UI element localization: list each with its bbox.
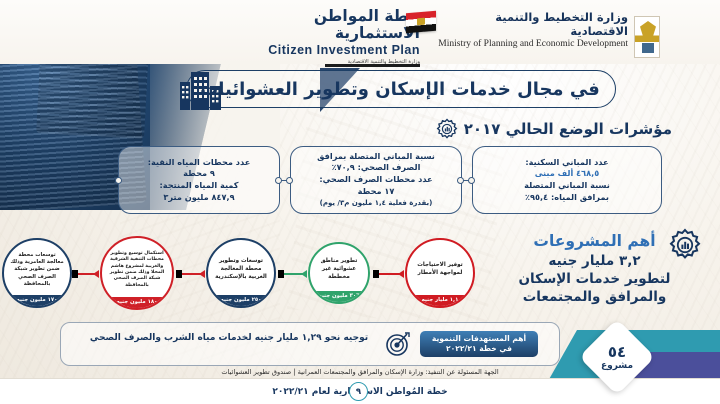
housing-line-3: نسبة المباني المتصلة	[524, 180, 610, 190]
projects-count-number: ٥٤	[608, 343, 626, 361]
flow-arrow-2	[279, 273, 305, 275]
plan-title-ar: خطة المواطن الاستثمارية	[230, 8, 420, 42]
project-node-west-plant: توسعات وتطوير محطة المعالجة الغربية بالإ…	[206, 238, 276, 308]
projects-section-heading: أهم المشروعات ٣,٢ مليار جنيه لتطوير خدما…	[487, 232, 702, 307]
logo-rule	[325, 64, 420, 67]
target-icon	[384, 331, 410, 357]
status-card-water: عدد محطات المياه النقية: ٩ محطة كمية الم…	[118, 146, 280, 214]
status-section-title: مؤشرات الوضع الحالي ٢٠١٧	[464, 120, 672, 138]
card-connector-dot-2	[457, 177, 464, 184]
projects-amount: ٣,٢ مليار جنيه	[548, 253, 640, 269]
housing-line-2: ٤٦٨,٥ ألف مبنى	[535, 168, 599, 178]
egypt-eagle-crest-icon	[634, 16, 660, 58]
gear-chart-icon	[436, 118, 458, 140]
status-card-sewage: نسبة المباني المتصلة بمرافق الصرف الصحي:…	[290, 146, 462, 214]
card-connector-dot-1	[468, 177, 475, 184]
project-label-west-plant: توسعات وتطوير محطة المعالجة الغربية بالإ…	[213, 258, 269, 281]
project-node-informal: تطوير مناطق عشوائية غير مخططة ٣٠٦ مليون …	[308, 242, 370, 304]
project-amount-rain: ١,١ مليار جنيه	[407, 295, 473, 306]
plan-title-en: Citizen Investment Plan	[230, 42, 420, 58]
project-label-rain: توفير الاحتياجات لمواجهة الأمطار	[412, 262, 468, 278]
gear-chart-icon-large	[668, 228, 702, 262]
water-line-1: عدد محطات المياه النقية:	[148, 157, 251, 167]
sewage-line-4: ١٧ محطة	[358, 186, 395, 196]
flow-arrow-1	[374, 273, 402, 275]
sewage-line-5: (بقدرة فعلية ١,٤ مليون م٣/ يوم)	[320, 199, 433, 207]
main-title-bar: في مجال خدمات الإسكان وتطوير العشوائيات	[0, 64, 720, 116]
sewage-line-2: الصرف الصحي: ٧٠,٩٪	[332, 162, 421, 172]
projects-count-badge: ٥٤ مشروع	[579, 319, 655, 395]
status-card-housing: عدد المباني السكنية: ٤٦٨,٥ ألف مبنى نسبة…	[472, 146, 662, 214]
ministry-logo: وزارة التخطيط والتنمية الاقتصادية Minist…	[438, 10, 668, 50]
page-number: ٩	[349, 382, 368, 401]
water-line-2: ٩ محطة	[183, 168, 215, 178]
card-connector-dot-4	[275, 177, 282, 184]
water-line-3: كمية المياه المنتجة:	[159, 180, 238, 190]
ministry-name-en: Ministry of Planning and Economic Develo…	[438, 39, 628, 50]
housing-line-1: عدد المباني السكنية:	[525, 157, 608, 167]
project-amount-amreya-plant: ١٧٠ مليون جنيه	[4, 295, 70, 306]
targets-badge-line1: أهم المستهدفات التنموية	[432, 334, 526, 344]
projects-desc-2: والمرافق والمجتمعات	[523, 289, 667, 305]
housing-line-4: بمرافق المياه: ٩٥,٤٪	[525, 192, 609, 202]
project-node-amreya-plant: توسعات محطة معالجة العامرية وذلك ضمن تطو…	[2, 238, 72, 308]
targets-text: توجيه نحو ١,٢٩ مليار جنيه لخدمات مياه ال…	[84, 332, 374, 345]
project-label-informal: تطوير مناطق عشوائية غير مخططة	[315, 258, 363, 281]
flow-arrow-4	[73, 273, 97, 275]
project-amount-informal: ٣٠٦ مليون جنيه	[310, 291, 368, 302]
status-cards-row: عدد المباني السكنية: ٤٦٨,٥ ألف مبنى نسبة…	[0, 146, 720, 220]
sewage-line-1: نسبة المباني المتصلة بمرافق	[317, 151, 435, 161]
citizen-investment-plan-logo: خطة المواطن الاستثمارية Citizen Investme…	[230, 8, 420, 65]
sewage-line-3: عدد محطات الصرف الصحي:	[319, 174, 432, 184]
card-connector-dot-5	[115, 177, 122, 184]
egypt-flag-icon	[406, 11, 436, 34]
project-node-east-west-network: استكمال توسيع وتطوير محطات التنقية الشرق…	[100, 236, 174, 310]
project-amount-east-west-network: ١٨٠ مليون جنيه	[102, 297, 172, 308]
projects-count-label: مشروع	[601, 361, 633, 371]
status-section-heading: مؤشرات الوضع الحالي ٢٠١٧	[436, 118, 672, 140]
targets-badge: أهم المستهدفات التنموية في خطة ٢٠٢٢/٢١	[420, 331, 538, 357]
projects-desc-1: لتطوير خدمات الإسكان	[519, 271, 671, 287]
project-label-east-west-network: استكمال توسيع وتطوير محطات التنقية الشرق…	[107, 251, 167, 290]
project-amount-west-plant: ٢٥٠ مليون جنيه	[208, 295, 274, 306]
card-connector-dot-3	[286, 177, 293, 184]
page-title: في مجال خدمات الإسكان وتطوير العشوائيات	[200, 78, 600, 101]
flow-arrow-3	[177, 273, 203, 275]
infographic-page: خطة المواطن الاستثمارية Citizen Investme…	[0, 0, 720, 404]
project-label-amreya-plant: توسعات محطة معالجة العامرية وذلك ضمن تطو…	[9, 252, 65, 288]
water-line-4: ٨٤٧,٩ مليون متر٣	[163, 192, 234, 202]
development-targets-strip: أهم المستهدفات التنموية في خطة ٢٠٢٢/٢١ ت…	[60, 322, 560, 366]
ministry-name-ar: وزارة التخطيط والتنمية الاقتصادية	[438, 10, 628, 39]
project-node-rain: توفير الاحتياجات لمواجهة الأمطار ١,١ ملي…	[405, 238, 475, 308]
targets-badge-line2: في خطة ٢٠٢٢/٢١	[446, 344, 512, 354]
